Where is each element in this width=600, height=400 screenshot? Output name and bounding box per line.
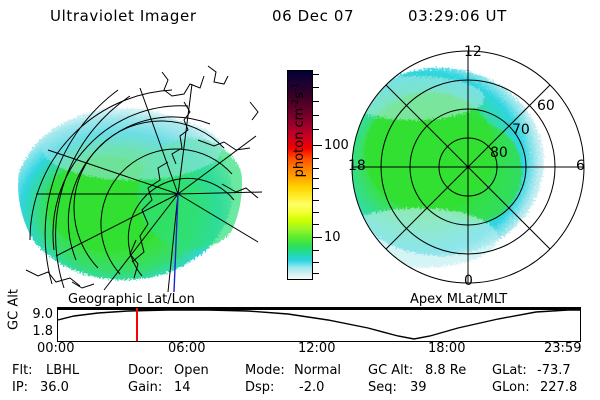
mlt-aurora-plot	[344, 42, 592, 292]
time-tick-1200: 12:00	[298, 342, 335, 355]
geographic-image-panel[interactable]	[12, 44, 264, 292]
colorbar-tick	[313, 212, 319, 213]
right-panel-subtitle: Apex MLat/MLT	[410, 292, 507, 307]
status-door-value: Open	[174, 364, 209, 377]
geographic-image-clip	[12, 44, 264, 292]
time-tick-1800: 18:00	[428, 342, 465, 355]
aurora-emission-region	[344, 68, 544, 268]
mlat-label-70: 70	[512, 123, 530, 137]
colorbar-tick	[313, 224, 319, 225]
mlt-label-18: 18	[348, 159, 366, 173]
time-tick-0600: 06:00	[168, 342, 205, 355]
status-bar: Flt: LBHL Door: Open Mode: Normal GC Alt…	[0, 362, 600, 400]
status-gain-label: Gain:	[128, 381, 162, 394]
status-ip-label: IP:	[12, 381, 28, 394]
colorbar-tick	[313, 101, 319, 102]
colorbar-axis-exponent-1: -2	[291, 99, 301, 108]
colorbar-tick	[313, 178, 319, 179]
colorbar-tick	[313, 168, 319, 169]
colorbar-tick	[313, 87, 319, 88]
mlt-spokes	[352, 51, 584, 283]
colorbar-axis-exponent-2: -1	[291, 83, 301, 92]
mlt-label-6: 6	[576, 159, 585, 173]
status-dsp-label: Dsp:	[245, 381, 274, 394]
mlat-label-60: 60	[537, 99, 555, 113]
colorbar-axis-title-main: photon cm	[292, 108, 307, 178]
status-glat-label: GLat:	[492, 364, 527, 377]
status-flt-value: LBHL	[46, 364, 79, 377]
colorbar-axis-title-mid: s	[292, 92, 307, 99]
status-door-label: Door:	[128, 364, 163, 377]
status-seq-value: 39	[410, 381, 427, 394]
observation-time: 03:29:06 UT	[408, 7, 507, 25]
colorbar-tick	[313, 129, 319, 130]
colorbar-tick	[313, 273, 319, 274]
orbit-track-axes	[57, 307, 581, 342]
status-gcalt-value: 8.8 Re	[425, 364, 466, 377]
gc-alt-tick-low: 1.8	[19, 325, 53, 338]
status-dsp-value: -2.0	[299, 381, 324, 394]
mlt-label-12: 12	[464, 45, 482, 59]
status-mode-value: Normal	[294, 364, 341, 377]
colorbar-axis-title: photon cm-2s-1	[291, 42, 307, 218]
left-panel-subtitle: Geographic Lat/Lon	[68, 292, 195, 307]
time-tick-0000: 00:00	[37, 342, 74, 355]
status-glon-value: 227.8	[540, 381, 577, 394]
app-window: Ultraviolet Imager 06 Dec 07 03:29:06 UT	[0, 0, 600, 400]
page-title: Ultraviolet Imager	[50, 7, 197, 25]
observation-date: 06 Dec 07	[272, 7, 354, 25]
orbit-track-panel[interactable]: Geographic Lat/Lon Apex MLat/MLT GC Alt …	[0, 292, 600, 352]
colorbar-label-10: 10	[324, 231, 341, 244]
gc-alt-tick-high: 9.0	[19, 308, 53, 321]
colorbar-tick-major-10	[313, 237, 322, 238]
mlt-dial-panel[interactable]: 12 6 0 18 60 70 80	[344, 42, 592, 292]
status-glon-label: GLon:	[492, 381, 530, 394]
colorbar-panel: 100 10 photon cm-2s-1	[266, 60, 346, 292]
colorbar-tick	[313, 262, 319, 263]
geographic-aurora-plot	[12, 44, 264, 292]
status-ip-value: 36.0	[40, 381, 69, 394]
colorbar-tick	[313, 188, 319, 189]
status-gcalt-label: GC Alt:	[368, 364, 413, 377]
status-gain-value: 14	[174, 381, 191, 394]
mlat-label-80: 80	[490, 146, 508, 160]
status-glat-value: -73.7	[537, 364, 571, 377]
colorbar-tick	[313, 200, 319, 201]
colorbar-tick	[313, 115, 319, 116]
colorbar-tick	[313, 74, 319, 75]
time-tick-2359: 23:59	[544, 342, 581, 355]
colorbar-tick	[313, 158, 319, 159]
status-seq-label: Seq:	[368, 381, 397, 394]
current-time-marker	[136, 308, 138, 341]
status-mode-label: Mode:	[245, 364, 285, 377]
colorbar-tick	[313, 250, 319, 251]
mlt-label-0: 0	[464, 274, 473, 288]
status-flt-label: Flt:	[12, 364, 33, 377]
colorbar-tick-major-100	[313, 145, 322, 146]
